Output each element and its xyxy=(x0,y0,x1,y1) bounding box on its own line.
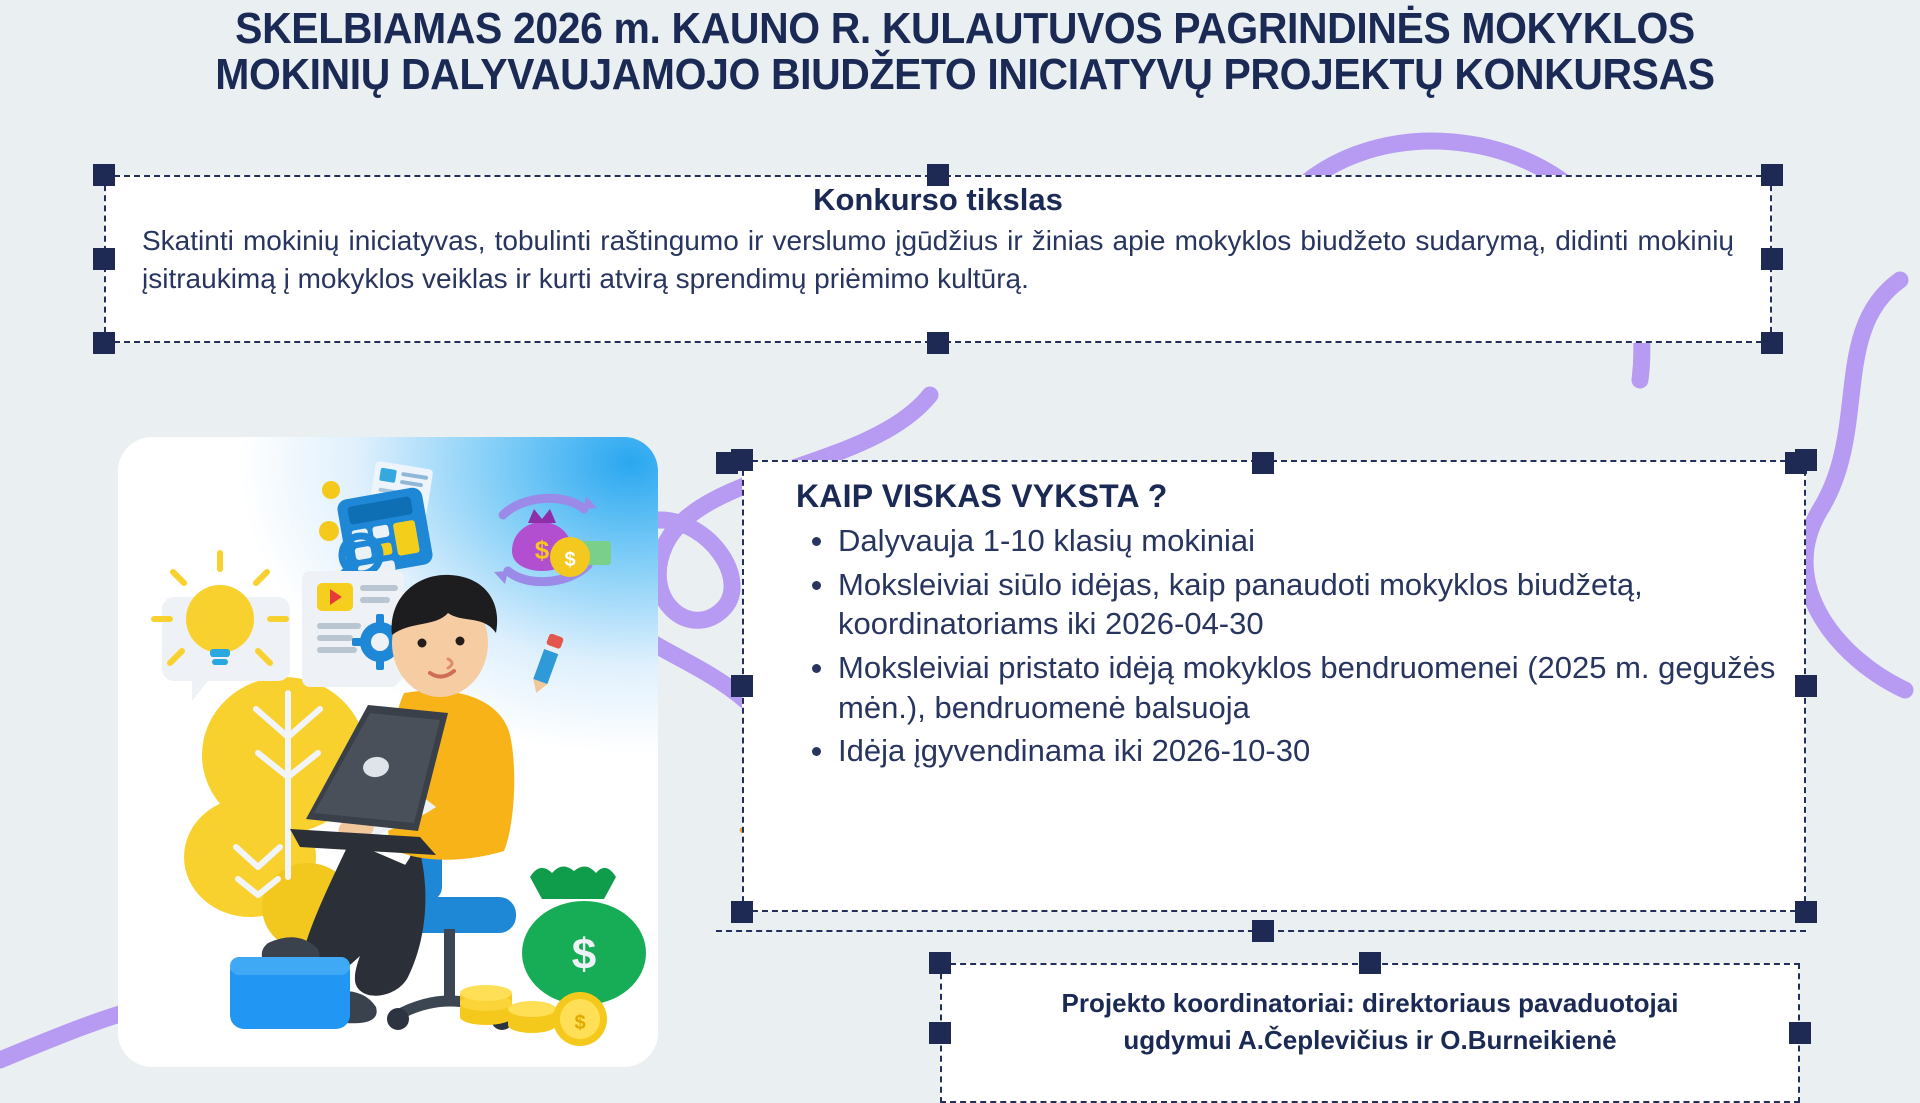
resize-handle-nw[interactable] xyxy=(929,952,951,974)
svg-text:$: $ xyxy=(535,535,550,565)
coins-icon: $ xyxy=(460,985,607,1046)
resize-handle-outer-ne[interactable] xyxy=(1785,452,1807,474)
resize-handle-w[interactable] xyxy=(731,675,753,697)
coin-icon xyxy=(322,481,340,499)
resize-handle-n[interactable] xyxy=(927,164,949,186)
lightbulb-icon xyxy=(154,553,290,701)
pencil-icon xyxy=(529,633,564,695)
coordinators-line-2: ugdymui A.Čeplevičius ir O.Burneikienė xyxy=(980,1022,1760,1059)
svg-text:$: $ xyxy=(564,549,575,571)
calculator-icon xyxy=(336,486,434,578)
coin-icon xyxy=(319,521,339,541)
goal-textbox[interactable]: Konkurso tikslas Skatinti mokinių inicia… xyxy=(104,175,1772,343)
list-item: Idėja įgyvendinama iki 2026-10-30 xyxy=(838,731,1792,771)
money-bag-icon: $ xyxy=(522,866,646,1005)
money-exchange-icon: $ $ xyxy=(494,496,611,584)
resize-handle-n[interactable] xyxy=(1359,952,1381,974)
svg-text:$: $ xyxy=(572,930,596,979)
page-title: SKELBIAMAS 2026 m. KAUNO R. KULAUTUVOS P… xyxy=(179,6,1751,98)
illustration-image[interactable]: $ $ xyxy=(118,437,658,1067)
resize-handle-e[interactable] xyxy=(1795,675,1817,697)
slide-canvas: SKELBIAMAS 2026 m. KAUNO R. KULAUTUVOS P… xyxy=(0,0,1920,1080)
list-item: Dalyvauja 1-10 klasių mokiniai xyxy=(838,521,1792,561)
list-item: Moksleiviai pristato idėją mokyklos bend… xyxy=(838,648,1792,727)
how-it-works-textbox[interactable]: KAIP VISKAS VYKSTA ? Dalyvauja 1-10 klas… xyxy=(742,460,1806,912)
resize-handle-sw[interactable] xyxy=(731,901,753,923)
svg-text:$: $ xyxy=(574,1012,585,1034)
resize-handle-e[interactable] xyxy=(1789,1022,1811,1044)
goal-body: Skatinti mokinių iniciatyvas, tobulinti … xyxy=(142,222,1734,298)
resize-handle-ne[interactable] xyxy=(1761,164,1783,186)
resize-handle-s[interactable] xyxy=(927,332,949,354)
resize-handle-outer-s[interactable] xyxy=(1252,920,1274,942)
how-heading: KAIP VISKAS VYKSTA ? xyxy=(796,478,1792,515)
coordinators-textbox[interactable]: Projekto koordinatoriai: direktoriaus pa… xyxy=(940,963,1800,1103)
resize-handle-outer-n[interactable] xyxy=(1252,452,1274,474)
resize-handle-outer-nw[interactable] xyxy=(716,452,738,474)
resize-handle-se[interactable] xyxy=(1761,332,1783,354)
coordinators-line-1: Projekto koordinatoriai: direktoriaus pa… xyxy=(980,985,1760,1022)
resize-handle-w[interactable] xyxy=(929,1022,951,1044)
how-list: Dalyvauja 1-10 klasių mokiniai Moksleivi… xyxy=(796,521,1792,771)
goal-heading: Konkurso tikslas xyxy=(142,181,1734,218)
resize-handle-se[interactable] xyxy=(1795,901,1817,923)
resize-handle-sw[interactable] xyxy=(93,332,115,354)
resize-handle-nw[interactable] xyxy=(93,164,115,186)
resize-handle-e[interactable] xyxy=(1761,248,1783,270)
resize-handle-w[interactable] xyxy=(93,248,115,270)
list-item: Moksleiviai siūlo idėjas, kaip panaudoti… xyxy=(838,565,1792,644)
